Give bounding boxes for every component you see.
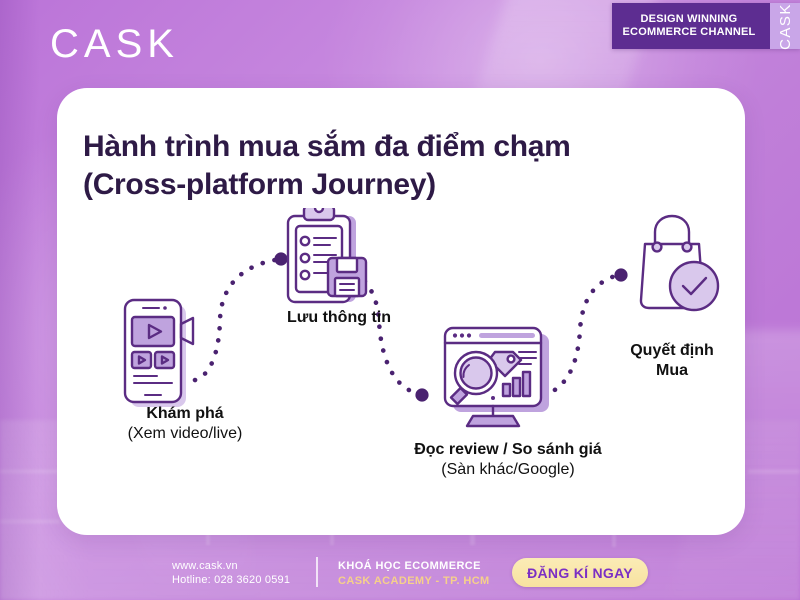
background-shelf-line (748, 470, 800, 473)
footer-hotline: Hotline: 028 3620 0591 (172, 573, 290, 587)
badge-text-block: DESIGN WINNING ECOMMERCE CHANNEL (612, 3, 770, 49)
label-purchase: Quyết định Mua (592, 341, 745, 381)
label-save-info-main: Lưu thông tin (247, 308, 431, 328)
label-purchase-main: Quyết định (592, 341, 745, 361)
label-read-review: Đọc review / So sánh giá (Sàn khác/Googl… (373, 440, 643, 480)
cask-logo: CASK (50, 22, 179, 67)
page-title-line-1: Hành trình mua sắm đa điểm chạm (83, 130, 571, 163)
label-save-info: Lưu thông tin (247, 308, 431, 328)
monitor-research-icon (445, 328, 549, 426)
label-read-review-main: Đọc review / So sánh giá (373, 440, 643, 460)
shopping-bag-check-icon (641, 216, 718, 310)
label-purchase-sub: Mua (592, 361, 745, 381)
page-title: Hành trình mua sắm đa điểm chạm (Cross-p… (83, 128, 703, 204)
badge-side-tab: CASK (770, 3, 800, 49)
design-winning-badge: DESIGN WINNING ECOMMERCE CHANNEL CASK (612, 3, 800, 49)
footer-course-line-1: KHOÁ HỌC ECOMMERCE (338, 559, 490, 574)
footer-divider (316, 557, 318, 587)
badge-line-2: ECOMMERCE CHANNEL (623, 26, 756, 39)
background-left-shade (0, 0, 40, 600)
journey-diagram: .ln { fill:none; stroke:#5b2c83; stroke-… (57, 208, 745, 528)
footer-course: KHOÁ HỌC ECOMMERCE CASK ACADEMY - TP. HC… (338, 559, 490, 589)
label-discover: Khám phá (Xem video/live) (95, 404, 275, 444)
badge-line-1: DESIGN WINNING (641, 13, 738, 26)
footer-course-line-2: CASK ACADEMY - TP. HCM (338, 574, 490, 589)
label-read-review-sub: (Sàn khác/Google) (373, 460, 643, 480)
label-discover-main: Khám phá (95, 404, 275, 424)
slide-root: CASK DESIGN WINNING ECOMMERCE CHANNEL CA… (0, 0, 800, 600)
footer-contact: www.cask.vn Hotline: 028 3620 0591 (172, 559, 290, 587)
page-title-line-2: (Cross-platform Journey) (83, 168, 436, 201)
content-card: Hành trình mua sắm đa điểm chạm (Cross-p… (57, 88, 745, 535)
footer-website[interactable]: www.cask.vn (172, 559, 290, 573)
clipboard-save-icon (288, 208, 366, 302)
register-now-button[interactable]: ĐĂNG KÍ NGAY (512, 558, 648, 587)
badge-side-label: CASK (777, 3, 794, 50)
label-discover-sub: (Xem video/live) (95, 424, 275, 444)
phone-video-icon (125, 300, 193, 407)
